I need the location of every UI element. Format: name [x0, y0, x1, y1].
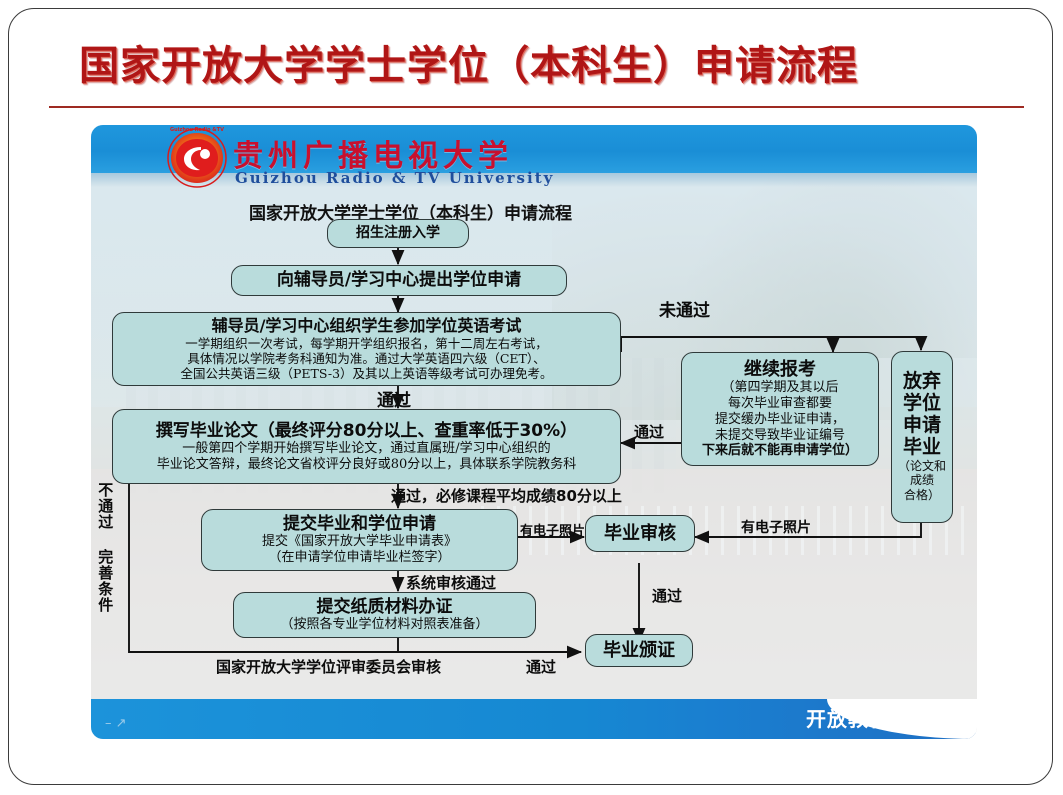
- node-english-exam-line1: 一学期组织一次考试，每学期开学组织报名，第十二周左右考试，: [185, 336, 548, 351]
- node-giveup-head: 放弃学位申请毕业: [894, 371, 950, 458]
- node-english-exam[interactable]: 辅导员/学习中心组织学生参加学位英语考试 一学期组织一次考试，每学期开学组织报名…: [112, 312, 621, 386]
- node-paper-head: 提交纸质材料办证: [317, 597, 453, 617]
- node-enroll[interactable]: 招生注册入学: [327, 219, 469, 248]
- node-apply[interactable]: 向辅导员/学习中心提出学位申请: [231, 265, 567, 296]
- node-enroll-head: 招生注册入学: [356, 225, 440, 242]
- label-committee-review: 国家开放大学学位评审委员会审核: [216, 656, 441, 677]
- label-pass-average-score: 通过，必修课程平均成绩80分以上: [391, 485, 622, 506]
- label-pass-english: 通过: [377, 386, 411, 411]
- node-giveup-line2: 成绩: [910, 473, 934, 488]
- node-thesis-line2: 毕业论文答辩，最终论文省校评分良好或80分以上，具体联系学院教务科: [157, 457, 577, 473]
- node-retake-line4: 未提交导致毕业证编号: [715, 428, 845, 444]
- label-system-pass: 系统审核通过: [406, 572, 496, 593]
- node-retake-line1: （第四学期及其以后: [721, 380, 838, 396]
- node-paper-materials[interactable]: 提交纸质材料办证 （按照各专业学位材料对照表准备）: [233, 592, 536, 638]
- slide: 国家开放大学学士学位（本科生）申请流程: [8, 8, 1053, 785]
- node-apply-head: 向辅导员/学习中心提出学位申请: [277, 270, 521, 290]
- node-thesis[interactable]: 撰写毕业论文（最终评分80分以上、查重率低于30%） 一般第四个学期开始撰写毕业…: [112, 409, 621, 484]
- page-title: 国家开放大学学士学位（本科生）申请流程: [79, 35, 979, 97]
- footer-decoration: – ↗: [105, 716, 127, 731]
- node-english-exam-line2: 具体情况以学院考务科通知为准。通过大学英语四六级（CET）、: [187, 351, 545, 366]
- node-thesis-line1: 一般第四个学期开始撰写毕业论文，通过直属班/学习中心组织的: [182, 441, 550, 457]
- node-review-head: 毕业审核: [604, 523, 676, 544]
- node-giveup[interactable]: 放弃学位申请毕业 （论文和 成绩 合格）: [891, 351, 953, 523]
- node-graduation-review[interactable]: 毕业审核: [585, 515, 695, 552]
- label-has-photo-right: 有电子照片: [741, 517, 811, 537]
- node-submit-head: 提交毕业和学位申请: [283, 514, 436, 534]
- node-paper-line1: （按照各专业学位材料对照表准备）: [280, 617, 488, 633]
- node-retake-head: 继续报考: [744, 359, 816, 380]
- title-divider: [49, 106, 1024, 108]
- node-thesis-head: 撰写毕业论文（最终评分80分以上、查重率低于30%）: [156, 421, 577, 441]
- label-fail-improve: 不通过 完善条件: [97, 482, 112, 632]
- node-english-exam-head: 辅导员/学习中心组织学生参加学位英语考试: [212, 317, 522, 336]
- label-fail-english: 未通过: [659, 296, 710, 321]
- label-has-photo-left: 有电子照片: [520, 520, 585, 539]
- node-issue-certificate[interactable]: 毕业颁证: [585, 634, 693, 667]
- node-submit-application[interactable]: 提交毕业和学位申请 提交《国家开放大学毕业申请表》 （在申请学位申请毕业栏签字）: [201, 509, 518, 571]
- label-review-pass: 通过: [652, 585, 682, 606]
- node-submit-line1: 提交《国家开放大学毕业申请表》: [262, 534, 457, 550]
- footer-label: 开放教育学院制: [806, 703, 953, 732]
- node-issue-head: 毕业颁证: [603, 640, 675, 661]
- label-committee-pass: 通过: [526, 656, 556, 677]
- node-giveup-line1: （论文和: [898, 459, 946, 474]
- node-retake-line2: 每次毕业审查都要: [728, 396, 832, 412]
- node-retake[interactable]: 继续报考 （第四学期及其以后 每次毕业审查都要 提交缓办毕业证申请， 未提交导致…: [681, 352, 879, 466]
- flowchart-image: Guizhou Radio &TV 贵州广播电视大学 Guizhou Radio…: [91, 125, 977, 739]
- label-retake-pass: 通过: [634, 421, 664, 442]
- node-giveup-line3: 合格）: [904, 488, 940, 503]
- node-submit-line2: （在申请学位申请毕业栏签字）: [268, 550, 450, 566]
- node-retake-line3: 提交缓办毕业证申请，: [715, 412, 845, 428]
- node-retake-line5: 下来后就不能再申请学位）: [702, 443, 858, 459]
- flow-diagram: 国家开放大学学士学位（本科生）申请流程: [91, 125, 977, 739]
- node-english-exam-line3: 全国公共英语三级（PETS-3）及其以上英语等级考试可办理免考。: [180, 366, 552, 381]
